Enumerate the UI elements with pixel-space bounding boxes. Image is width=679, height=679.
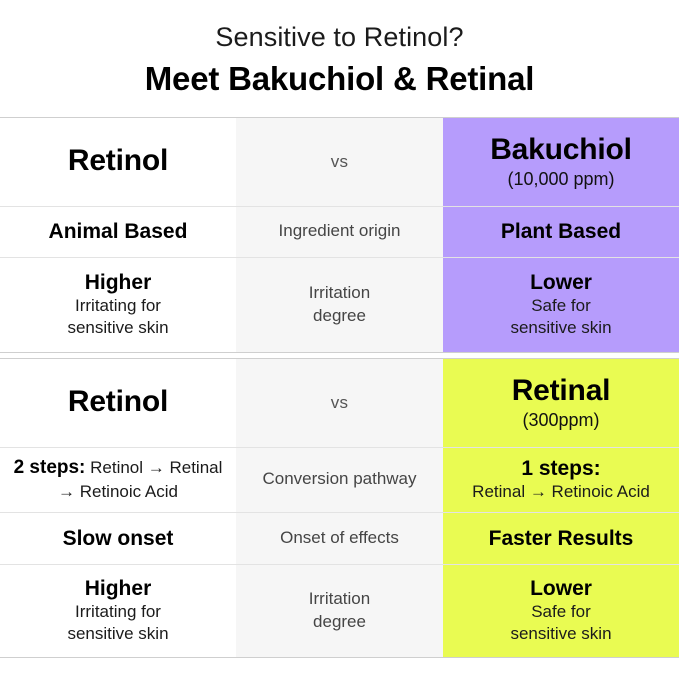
label-vs: vs xyxy=(331,152,349,172)
value-irritation-lower-note-line2: sensitive skin xyxy=(510,623,611,645)
cell-left-slow-onset: Slow onset xyxy=(0,513,236,564)
table-row-conversion-pathway: 2 steps: Retinol → Retinal → Retinoic Ac… xyxy=(0,448,679,513)
table-row-irritation-degree: Higher Irritating for sensitive skin Irr… xyxy=(0,565,679,657)
label-vs: vs xyxy=(331,393,349,413)
label-bakuchiol-concentration: (10,000 ppm) xyxy=(507,168,614,191)
header-subtitle: Sensitive to Retinol? xyxy=(0,22,679,53)
cell-middle-irritation-degree: Irritation degree xyxy=(236,258,443,352)
label-ingredient-origin: Ingredient origin xyxy=(279,220,401,243)
cell-right-irritation: Lower Safe for sensitive skin xyxy=(443,565,679,657)
value-irritation-higher: Higher xyxy=(85,270,152,295)
page-header: Sensitive to Retinol? Meet Bakuchiol & R… xyxy=(0,0,679,99)
value-irritation-lower-note-line2: sensitive skin xyxy=(510,317,611,339)
value-irritation-higher-note-line1: Irritating for xyxy=(75,601,161,623)
value-conversion-one-step-label: 1 steps: xyxy=(521,456,600,481)
table-row-ingredient-origin: Animal Based Ingredient origin Plant Bas… xyxy=(0,207,679,258)
cell-right-plant-based: Plant Based xyxy=(443,207,679,257)
cell-middle-onset-of-effects: Onset of effects xyxy=(236,513,443,564)
value-conversion-two-steps: 2 steps: Retinol → Retinal → Retinoic Ac… xyxy=(8,455,228,504)
table-row-onset-of-effects: Slow onset Onset of effects Faster Resul… xyxy=(0,513,679,565)
label-retinal-concentration: (300ppm) xyxy=(522,409,599,432)
label-onset-of-effects: Onset of effects xyxy=(280,527,399,550)
cell-left-irritation: Higher Irritating for sensitive skin xyxy=(0,565,236,657)
label-conversion-pathway: Conversion pathway xyxy=(262,468,416,491)
label-bakuchiol: Bakuchiol xyxy=(490,133,632,168)
value-irritation-lower-note-line1: Safe for xyxy=(531,295,591,317)
cell-left-retinol: Retinol xyxy=(0,359,236,447)
cell-left-irritation: Higher Irritating for sensitive skin xyxy=(0,258,236,352)
value-irritation-higher-note-line1: Irritating for xyxy=(75,295,161,317)
label-irritation-line1: Irritation xyxy=(309,588,370,611)
cell-left-retinol: Retinol xyxy=(0,118,236,206)
value-conversion-two-steps-label: 2 steps: xyxy=(14,457,86,478)
value-faster-results: Faster Results xyxy=(489,526,634,551)
cell-left-conversion: 2 steps: Retinol → Retinal → Retinoic Ac… xyxy=(0,448,236,512)
value-irritation-higher-note-line2: sensitive skin xyxy=(67,623,168,645)
value-irritation-lower-note-line1: Safe for xyxy=(531,601,591,623)
cell-right-irritation: Lower Safe for sensitive skin xyxy=(443,258,679,352)
cell-middle-vs: vs xyxy=(236,118,443,206)
cell-middle-vs: vs xyxy=(236,359,443,447)
table-row-irritation-degree: Higher Irritating for sensitive skin Irr… xyxy=(0,258,679,352)
value-irritation-lower: Lower xyxy=(530,270,592,295)
table-row-header: Retinol vs Retinal (300ppm) xyxy=(0,359,679,448)
value-conversion-one-step-path: Retinal → Retinoic Acid xyxy=(472,481,650,503)
value-slow-onset: Slow onset xyxy=(63,526,174,551)
comparison-block-retinal: Retinol vs Retinal (300ppm) 2 steps: Ret… xyxy=(0,358,679,658)
label-irritation-line2: degree xyxy=(313,611,366,634)
value-plant-based: Plant Based xyxy=(501,219,621,244)
value-animal-based: Animal Based xyxy=(49,219,188,244)
cell-right-faster-results: Faster Results xyxy=(443,513,679,564)
cell-right-retinal: Retinal (300ppm) xyxy=(443,359,679,447)
cell-middle-irritation-degree: Irritation degree xyxy=(236,565,443,657)
cell-right-bakuchiol: Bakuchiol (10,000 ppm) xyxy=(443,118,679,206)
comparison-block-bakuchiol: Retinol vs Bakuchiol (10,000 ppm) Animal… xyxy=(0,117,679,353)
cell-right-conversion: 1 steps: Retinal → Retinoic Acid xyxy=(443,448,679,512)
label-irritation-line2: degree xyxy=(313,305,366,328)
page-title: Meet Bakuchiol & Retinal xyxy=(0,59,679,99)
cell-middle-ingredient-origin: Ingredient origin xyxy=(236,207,443,257)
label-retinol: Retinol xyxy=(68,144,168,179)
label-retinol: Retinol xyxy=(68,385,168,420)
infographic-page: Sensitive to Retinol? Meet Bakuchiol & R… xyxy=(0,0,679,679)
cell-middle-conversion-pathway: Conversion pathway xyxy=(236,448,443,512)
value-irritation-lower: Lower xyxy=(530,576,592,601)
label-irritation-line1: Irritation xyxy=(309,282,370,305)
cell-left-animal-based: Animal Based xyxy=(0,207,236,257)
value-irritation-higher: Higher xyxy=(85,576,152,601)
label-retinal: Retinal xyxy=(512,374,611,409)
table-row-header: Retinol vs Bakuchiol (10,000 ppm) xyxy=(0,118,679,207)
value-irritation-higher-note-line2: sensitive skin xyxy=(67,317,168,339)
